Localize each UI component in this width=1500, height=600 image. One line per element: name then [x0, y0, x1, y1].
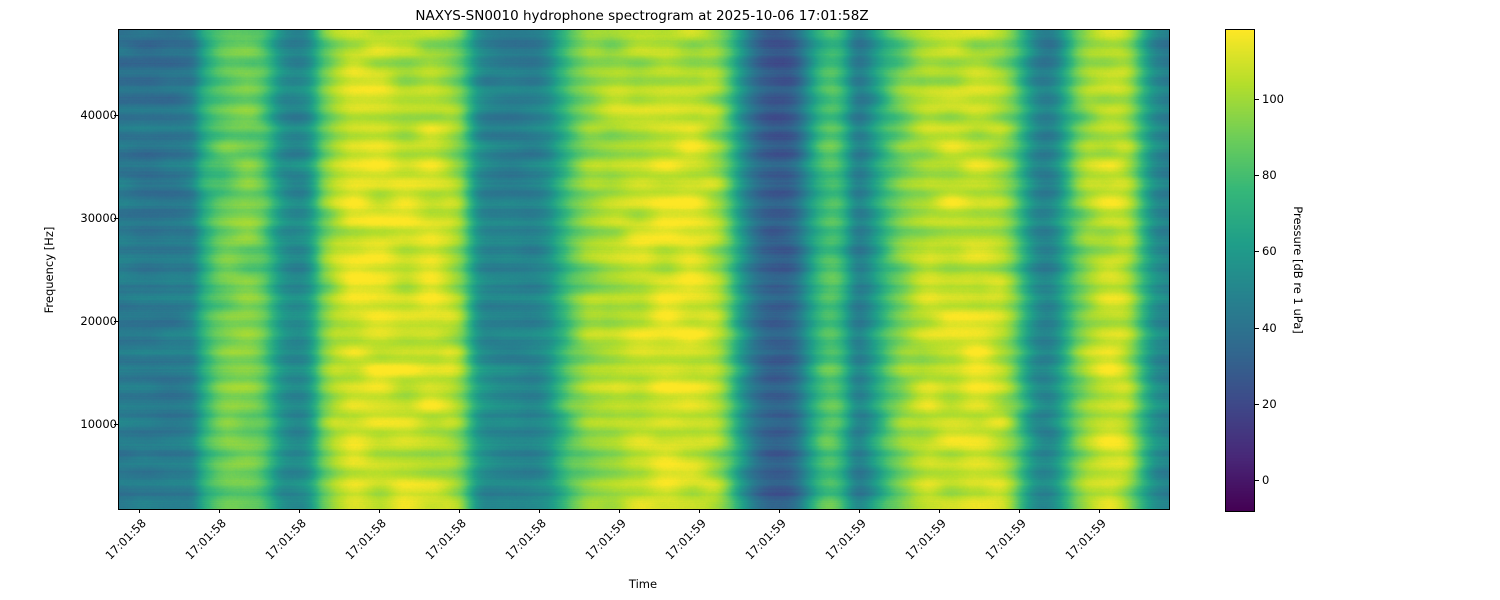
- x-tick-label: 17:01:59: [582, 516, 628, 562]
- x-tick-mark: [859, 509, 860, 513]
- colorbar-tick-mark: [1255, 480, 1259, 481]
- x-tick-label: 17:01:59: [1062, 516, 1108, 562]
- colorbar-tick-mark: [1255, 251, 1259, 252]
- x-tick-label: 17:01:59: [662, 516, 708, 562]
- x-tick-mark: [699, 509, 700, 513]
- y-axis-tick-labels: 10000200003000040000: [0, 0, 118, 600]
- colorbar-tick-mark: [1255, 328, 1259, 329]
- figure-title: NAXYS-SN0010 hydrophone spectrogram at 2…: [0, 8, 1284, 24]
- colorbar-tick-label: 100: [1262, 92, 1284, 106]
- x-tick-mark: [459, 509, 460, 513]
- x-tick-mark: [379, 509, 380, 513]
- x-tick-label: 17:01:59: [902, 516, 948, 562]
- x-tick-mark: [1099, 509, 1100, 513]
- x-tick-mark: [539, 509, 540, 513]
- x-tick-mark: [619, 509, 620, 513]
- colorbar-tick-label: 40: [1262, 321, 1277, 335]
- x-tick-label: 17:01:58: [182, 516, 228, 562]
- x-tick-mark: [779, 509, 780, 513]
- y-tick-label: 10000: [80, 417, 117, 431]
- colorbar-tick-label: 0: [1262, 473, 1269, 487]
- x-axis-title: Time: [118, 577, 1168, 591]
- y-tick-label: 20000: [80, 314, 117, 328]
- x-tick-label: 17:01:59: [742, 516, 788, 562]
- spectrogram-image: [119, 30, 1169, 509]
- colorbar-tick-label: 60: [1262, 244, 1277, 258]
- x-tick-mark: [219, 509, 220, 513]
- x-tick-label: 17:01:58: [342, 516, 388, 562]
- colorbar-title-text: Pressure [dB re 1 uPa]: [1291, 206, 1305, 334]
- spectrogram-figure: NAXYS-SN0010 hydrophone spectrogram at 2…: [0, 0, 1500, 600]
- y-axis-title: Frequency [Hz]: [42, 30, 56, 509]
- colorbar-tick-mark: [1255, 175, 1259, 176]
- colorbar-tick-label: 20: [1262, 397, 1277, 411]
- x-tick-label: 17:01:59: [982, 516, 1028, 562]
- colorbar-gradient: [1226, 30, 1254, 511]
- y-tick-label: 30000: [80, 211, 117, 225]
- y-axis-title-text: Frequency [Hz]: [42, 226, 56, 313]
- colorbar-title: Pressure [dB re 1 uPa]: [1291, 29, 1305, 510]
- x-tick-label: 17:01:58: [502, 516, 548, 562]
- x-tick-label: 17:01:58: [262, 516, 308, 562]
- x-tick-mark: [1019, 509, 1020, 513]
- x-tick-mark: [139, 509, 140, 513]
- x-tick-mark: [299, 509, 300, 513]
- colorbar-tick-label: 80: [1262, 168, 1277, 182]
- colorbar: [1225, 29, 1255, 512]
- colorbar-tick-mark: [1255, 404, 1259, 405]
- x-tick-label: 17:01:59: [822, 516, 868, 562]
- x-tick-mark: [939, 509, 940, 513]
- x-tick-label: 17:01:58: [422, 516, 468, 562]
- colorbar-tick-mark: [1255, 99, 1259, 100]
- spectrogram-axes: [118, 29, 1170, 510]
- y-tick-label: 40000: [80, 108, 117, 122]
